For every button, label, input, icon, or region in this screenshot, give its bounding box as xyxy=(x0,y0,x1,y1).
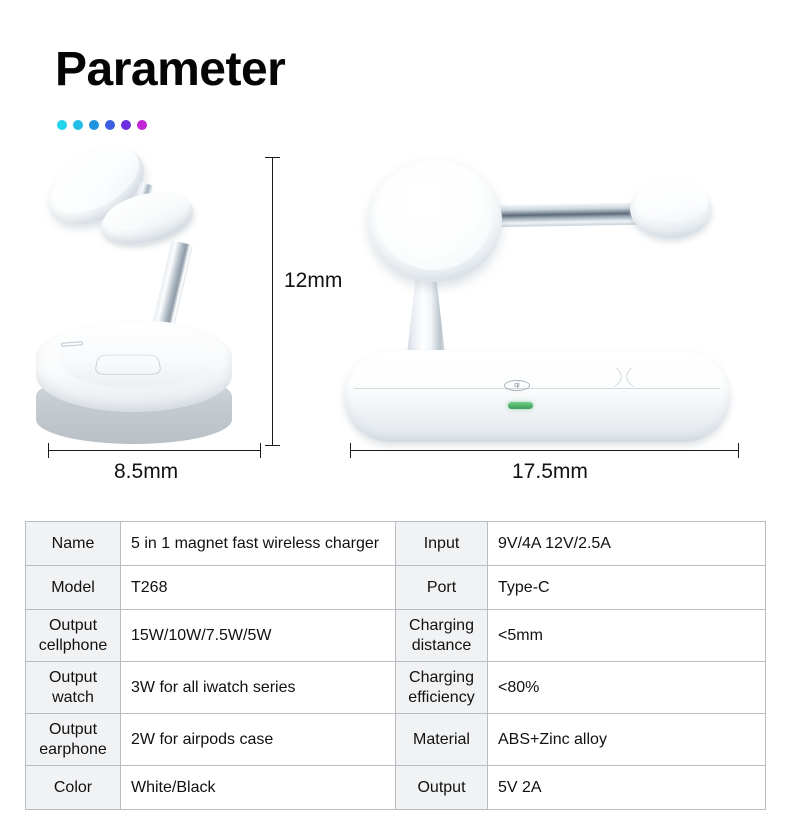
product-image-right-front-view: qi xyxy=(336,150,746,450)
spec-label-right-2: Charging distance xyxy=(396,610,488,662)
spec-value-right-1: Type-C xyxy=(488,566,766,610)
spec-value-left-2: 15W/10W/7.5W/5W xyxy=(121,610,396,662)
spec-label-right-0: Input xyxy=(396,522,488,566)
dot-3 xyxy=(89,120,99,130)
table-row: Name5 in 1 magnet fast wireless chargerI… xyxy=(26,522,766,566)
page-title: Parameter xyxy=(55,46,285,94)
watch-charging-puck-face xyxy=(636,180,708,222)
spec-label-left-5: Color xyxy=(26,766,121,810)
spec-label-right-1: Port xyxy=(396,566,488,610)
table-row: Output cellphone15W/10W/7.5W/5WCharging … xyxy=(26,610,766,662)
right-width-tick-end xyxy=(738,443,739,458)
decorative-dot-row xyxy=(57,120,147,130)
spec-label-left-2: Output cellphone xyxy=(26,610,121,662)
product-diagram: qi 12mm 8.5mm 17.5mm xyxy=(0,150,790,500)
qi-logo-icon: qi xyxy=(504,380,530,391)
spec-value-left-3: 3W for all iwatch series xyxy=(121,662,396,714)
height-dim-line xyxy=(272,157,273,445)
table-row: Output watch3W for all iwatch seriesChar… xyxy=(26,662,766,714)
base-seam-line xyxy=(354,388,720,389)
height-dim-label: 12mm xyxy=(284,269,342,293)
left-width-dim-label: 8.5mm xyxy=(114,460,178,484)
dot-5 xyxy=(121,120,131,130)
chrome-extension-arm xyxy=(486,203,646,228)
page-header: Parameter xyxy=(0,0,790,150)
spec-label-left-4: Output earphone xyxy=(26,714,121,766)
table-row: ModelT268PortType-C xyxy=(26,566,766,610)
dot-2 xyxy=(73,120,83,130)
dot-4 xyxy=(105,120,115,130)
right-width-dim-label: 17.5mm xyxy=(512,460,588,484)
left-width-tick-end xyxy=(260,443,261,458)
product-image-left-side-view xyxy=(28,150,258,450)
dot-1 xyxy=(57,120,67,130)
spec-label-right-5: Output xyxy=(396,766,488,810)
spec-label-right-3: Charging efficiency xyxy=(396,662,488,714)
spec-value-right-3: <80% xyxy=(488,662,766,714)
height-dim-tick-bottom xyxy=(265,445,280,446)
spec-label-left-0: Name xyxy=(26,522,121,566)
spec-value-left-0: 5 in 1 magnet fast wireless charger xyxy=(121,522,396,566)
spec-value-right-2: <5mm xyxy=(488,610,766,662)
specification-table: Name5 in 1 magnet fast wireless chargerI… xyxy=(25,521,766,810)
spec-label-right-4: Material xyxy=(396,714,488,766)
spec-label-left-1: Model xyxy=(26,566,121,610)
dot-6 xyxy=(137,120,147,130)
earphone-pad-indent xyxy=(94,355,163,375)
spec-value-left-1: T268 xyxy=(121,566,396,610)
spec-value-left-4: 2W for airpods case xyxy=(121,714,396,766)
spec-label-left-3: Output watch xyxy=(26,662,121,714)
spec-value-right-5: 5V 2A xyxy=(488,766,766,810)
table-row: Output earphone2W for airpods caseMateri… xyxy=(26,714,766,766)
spec-value-right-4: ABS+Zinc alloy xyxy=(488,714,766,766)
spec-value-left-5: White/Black xyxy=(121,766,396,810)
green-led-indicator xyxy=(508,402,533,409)
spec-value-right-0: 9V/4A 12V/2.5A xyxy=(488,522,766,566)
table-row: ColorWhite/BlackOutput5V 2A xyxy=(26,766,766,810)
right-width-dim-line xyxy=(350,450,739,451)
magsafe-disc-front-face xyxy=(376,162,492,270)
left-width-dim-line xyxy=(48,450,261,451)
